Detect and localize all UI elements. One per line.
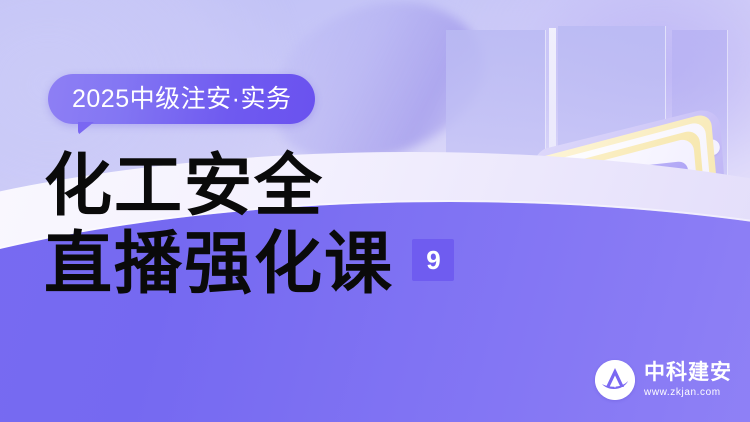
badge-label: 2025中级注安·实务 [72,87,291,112]
brand-logo-text: 中科建安 www.zkjan.com [644,362,732,397]
badge-bubble-tail [78,122,94,135]
course-category-badge: 2025中级注安·实务 [48,74,315,124]
headline-line-1: 化工安全 [44,152,324,220]
episode-number-badge: 9 [412,239,454,281]
brand-logo: 中科建安 www.zkjan.com [595,360,732,400]
brand-name: 中科建安 [644,362,732,384]
headline-line-1-row: 化工安全 [44,152,454,220]
brand-url: www.zkjan.com [644,388,732,398]
headline-line-2-row: 直播强化课 9 [44,230,454,298]
headline-line-2: 直播强化课 [44,230,394,298]
badge-bubble: 2025中级注安·实务 [48,74,315,124]
zkjan-mountain-mark-icon [595,360,635,400]
poster-headline: 化工安全 直播强化课 9 [44,152,454,298]
course-promo-poster: 2025中级注安·实务 化工安全 直播强化课 9 中科建安 www.zkjan.… [0,0,750,422]
